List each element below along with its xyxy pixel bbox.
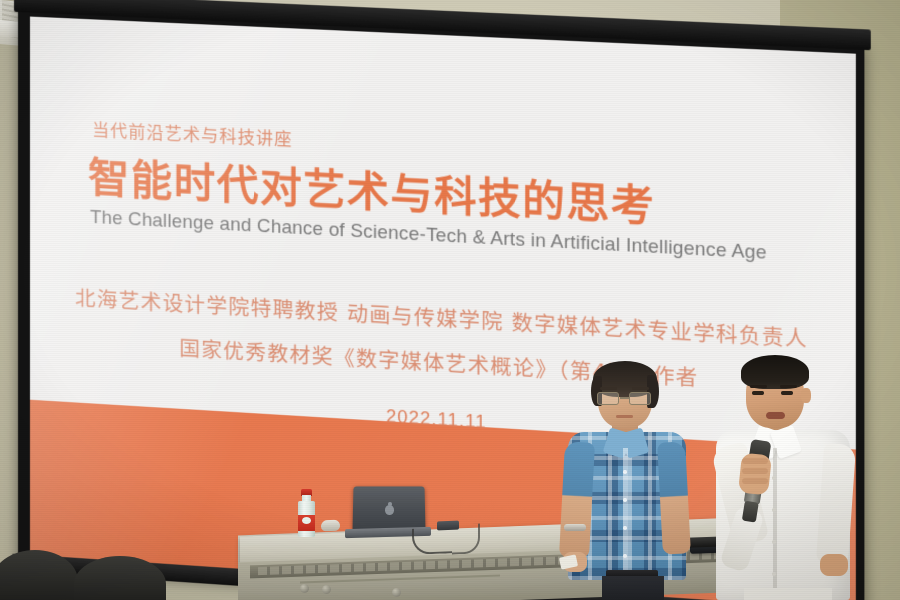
wristwatch bbox=[564, 524, 586, 531]
speaker-with-microphone bbox=[716, 358, 864, 600]
trousers bbox=[602, 576, 664, 600]
right-arm bbox=[657, 441, 691, 554]
eye bbox=[752, 391, 764, 395]
shirt-placket bbox=[773, 448, 777, 590]
laptop-cable bbox=[412, 527, 452, 554]
eye bbox=[781, 391, 793, 395]
bottle-label-logo bbox=[302, 517, 311, 524]
hair bbox=[741, 355, 809, 389]
eyebrow bbox=[750, 385, 767, 388]
ear bbox=[801, 388, 811, 403]
shirt-button bbox=[623, 554, 627, 558]
microphone-tail bbox=[742, 501, 759, 523]
podium-knob bbox=[322, 585, 331, 594]
podium-knob bbox=[300, 584, 309, 593]
finger bbox=[742, 468, 768, 474]
speaker-in-plaid-shirt bbox=[562, 366, 710, 600]
mouth-speaking bbox=[766, 412, 785, 419]
lecture-hall-photo: 当代前沿艺术与科技讲座 智能时代对艺术与科技的思考 The Challenge … bbox=[0, 0, 900, 600]
trousers bbox=[744, 588, 832, 600]
shirt-button bbox=[623, 526, 627, 530]
glasses-bridge bbox=[620, 397, 630, 399]
shirt-button bbox=[772, 508, 776, 512]
shirt-button bbox=[772, 540, 776, 544]
laptop-lid bbox=[353, 486, 426, 530]
shirt-button bbox=[772, 572, 776, 576]
computer-mouse bbox=[321, 520, 340, 532]
shirt-button bbox=[772, 476, 776, 480]
right-hand bbox=[820, 554, 848, 576]
right-arm bbox=[816, 443, 856, 565]
water-bottle bbox=[297, 489, 316, 537]
shirt-button bbox=[623, 498, 627, 502]
apple-logo-icon bbox=[385, 505, 394, 515]
glasses-lens bbox=[597, 392, 619, 405]
eyebrow bbox=[780, 385, 797, 388]
glasses-lens bbox=[629, 392, 651, 405]
eyebrow bbox=[632, 387, 649, 390]
eyeglasses bbox=[596, 392, 654, 405]
left-arm bbox=[559, 441, 595, 558]
shirt-button bbox=[623, 470, 627, 474]
finger bbox=[742, 478, 768, 484]
mouth bbox=[616, 415, 633, 418]
finger bbox=[742, 458, 768, 464]
podium-knob bbox=[392, 588, 401, 597]
eyebrow bbox=[600, 387, 617, 390]
